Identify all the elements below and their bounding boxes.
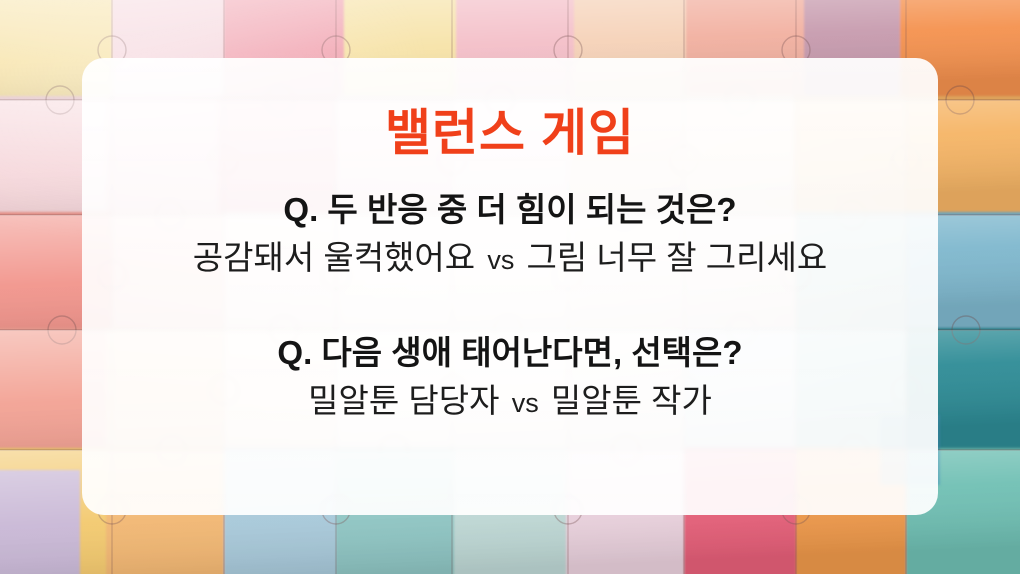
page-title: 밸런스 게임 bbox=[385, 106, 635, 161]
slide-stage: 밸런스 게임 Q. 두 반응 중 더 힘이 되는 것은? 공감돼서 울컥했어요 … bbox=[0, 0, 1020, 574]
option-b-label: 밀알툰 작가 bbox=[551, 382, 712, 419]
options-row: 밀알툰 담당자 vs 밀알툰 작가 bbox=[82, 380, 938, 423]
question-block: Q. 다음 생애 태어난다면, 선택은? 밀알툰 담당자 vs 밀알툰 작가 bbox=[82, 332, 938, 423]
option-a-label: 밀알툰 담당자 bbox=[308, 382, 499, 419]
question-text: Q. 두 반응 중 더 힘이 되는 것은? bbox=[82, 189, 938, 231]
question-list: Q. 두 반응 중 더 힘이 되는 것은? 공감돼서 울컥했어요 vs 그림 너… bbox=[82, 189, 938, 423]
option-separator: vs bbox=[509, 388, 542, 418]
option-a-label: 공감돼서 울컥했어요 bbox=[193, 239, 475, 276]
question-text: Q. 다음 생애 태어난다면, 선택은? bbox=[82, 332, 938, 374]
question-block: Q. 두 반응 중 더 힘이 되는 것은? 공감돼서 울컥했어요 vs 그림 너… bbox=[82, 189, 938, 280]
content-card: 밸런스 게임 Q. 두 반응 중 더 힘이 되는 것은? 공감돼서 울컥했어요 … bbox=[82, 58, 938, 515]
option-b-label: 그림 너무 잘 그리세요 bbox=[527, 239, 828, 276]
option-separator: vs bbox=[484, 245, 517, 275]
options-row: 공감돼서 울컥했어요 vs 그림 너무 잘 그리세요 bbox=[82, 237, 938, 280]
